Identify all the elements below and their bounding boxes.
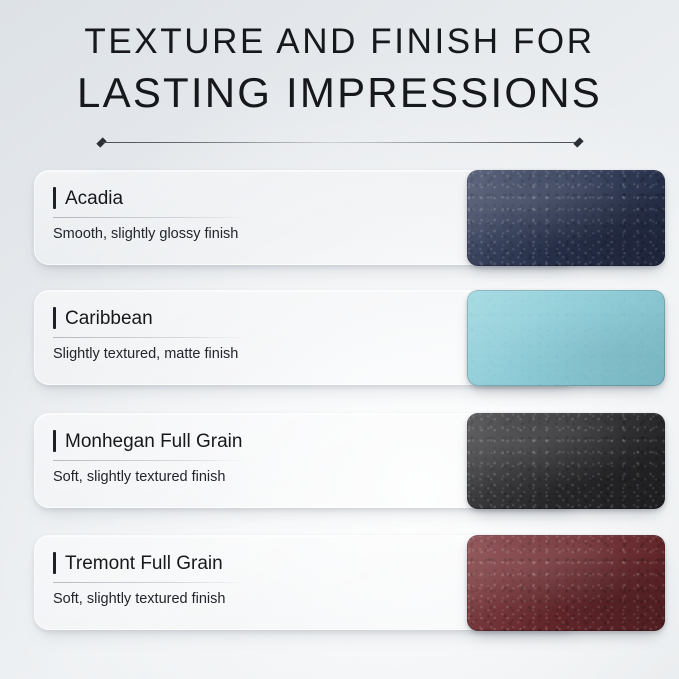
swatch-description: Soft, slightly textured finish bbox=[53, 469, 353, 485]
swatch-name-row: Tremont Full Grain bbox=[53, 550, 353, 576]
swatch-row: Acadia Smooth, slightly glossy finish bbox=[0, 163, 679, 283]
diamond-right-icon bbox=[573, 137, 583, 147]
swatch-edge-highlight bbox=[467, 413, 665, 509]
swatch-description: Slightly textured, matte finish bbox=[53, 346, 353, 362]
swatch-sample[interactable] bbox=[467, 535, 665, 631]
swatch-card-body: Monhegan Full Grain Soft, slightly textu… bbox=[53, 428, 353, 485]
swatch-description: Soft, slightly textured finish bbox=[53, 591, 353, 607]
swatch-card-body: Tremont Full Grain Soft, slightly textur… bbox=[53, 550, 353, 607]
page-title-line-2: LASTING IMPRESSIONS bbox=[0, 72, 679, 114]
swatch-card-body: Caribbean Slightly textured, matte finis… bbox=[53, 305, 353, 362]
swatch-sample[interactable] bbox=[467, 413, 665, 509]
swatch-row: Tremont Full Grain Soft, slightly textur… bbox=[0, 528, 679, 648]
accent-bar-icon bbox=[53, 552, 56, 574]
swatch-name-underline bbox=[53, 337, 247, 338]
swatch-name-row: Acadia bbox=[53, 185, 353, 211]
swatch-edge-highlight bbox=[467, 535, 665, 631]
swatch-name-underline bbox=[53, 217, 247, 218]
swatch-name: Tremont Full Grain bbox=[65, 554, 223, 573]
swatch-row: Monhegan Full Grain Soft, slightly textu… bbox=[0, 406, 679, 526]
swatch-name-row: Caribbean bbox=[53, 305, 353, 331]
swatch-sample[interactable] bbox=[467, 290, 665, 386]
swatch-name: Caribbean bbox=[65, 309, 153, 328]
accent-bar-icon bbox=[53, 307, 56, 329]
swatch-sample[interactable] bbox=[467, 170, 665, 266]
accent-bar-icon bbox=[53, 430, 56, 452]
swatch-edge-highlight bbox=[467, 290, 665, 386]
swatch-row: Caribbean Slightly textured, matte finis… bbox=[0, 283, 679, 403]
page-title-line-1: TEXTURE AND FINISH FOR bbox=[0, 24, 679, 59]
swatch-name-underline bbox=[53, 460, 247, 461]
infographic-page: TEXTURE AND FINISH FOR LASTING IMPRESSIO… bbox=[0, 0, 679, 679]
swatch-name: Acadia bbox=[65, 189, 123, 208]
swatch-name-underline bbox=[53, 582, 247, 583]
accent-bar-icon bbox=[53, 187, 56, 209]
swatch-edge-highlight bbox=[467, 170, 665, 266]
swatch-card-body: Acadia Smooth, slightly glossy finish bbox=[53, 185, 353, 242]
page-header: TEXTURE AND FINISH FOR LASTING IMPRESSIO… bbox=[0, 24, 679, 114]
divider-rule bbox=[103, 142, 577, 143]
ornamental-divider bbox=[97, 138, 583, 147]
swatch-name-row: Monhegan Full Grain bbox=[53, 428, 353, 454]
swatch-description: Smooth, slightly glossy finish bbox=[53, 226, 353, 242]
swatch-name: Monhegan Full Grain bbox=[65, 432, 242, 451]
